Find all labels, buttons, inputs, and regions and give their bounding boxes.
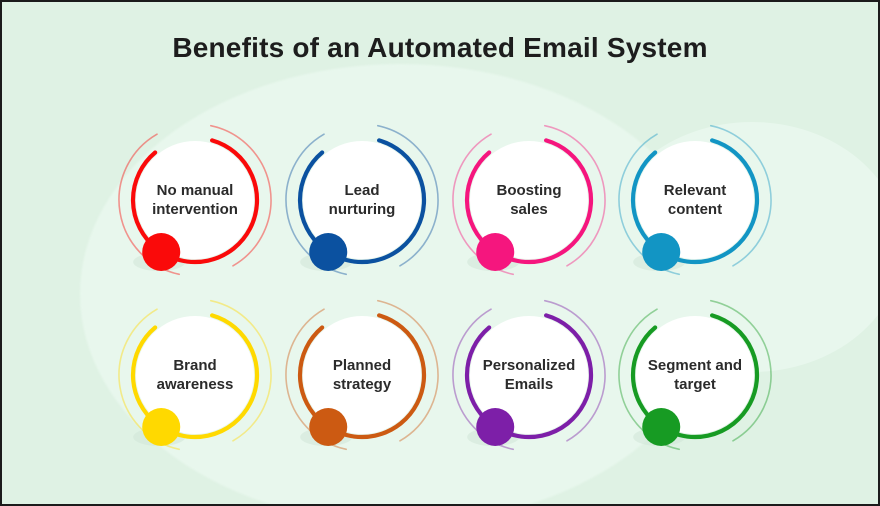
- benefit-label-no-manual-intervention: No manual intervention: [118, 124, 272, 276]
- benefit-node-no-manual-intervention[interactable]: No manual intervention: [110, 124, 280, 300]
- benefit-label-lead-nurturing: Lead nurturing: [285, 124, 439, 276]
- infographic-canvas: Benefits of an Automated Email System No…: [0, 0, 880, 506]
- benefit-label-boosting-sales: Boosting sales: [452, 124, 606, 276]
- benefit-node-brand-awareness[interactable]: Brand awareness: [110, 299, 280, 475]
- benefit-node-personalized-emails[interactable]: Personalized Emails: [444, 299, 614, 475]
- benefit-label-brand-awareness: Brand awareness: [118, 299, 272, 451]
- benefit-node-planned-strategy[interactable]: Planned strategy: [277, 299, 447, 475]
- benefit-label-personalized-emails: Personalized Emails: [452, 299, 606, 451]
- benefit-node-boosting-sales[interactable]: Boosting sales: [444, 124, 614, 300]
- benefit-label-planned-strategy: Planned strategy: [285, 299, 439, 451]
- benefit-label-segment-and-target: Segment and target: [618, 299, 772, 451]
- benefit-label-relevant-content: Relevant content: [618, 124, 772, 276]
- page-title: Benefits of an Automated Email System: [2, 32, 878, 64]
- benefit-node-relevant-content[interactable]: Relevant content: [610, 124, 780, 300]
- benefits-grid: No manual interventionLead nurturingBoos…: [2, 124, 880, 494]
- benefit-node-lead-nurturing[interactable]: Lead nurturing: [277, 124, 447, 300]
- benefit-node-segment-and-target[interactable]: Segment and target: [610, 299, 780, 475]
